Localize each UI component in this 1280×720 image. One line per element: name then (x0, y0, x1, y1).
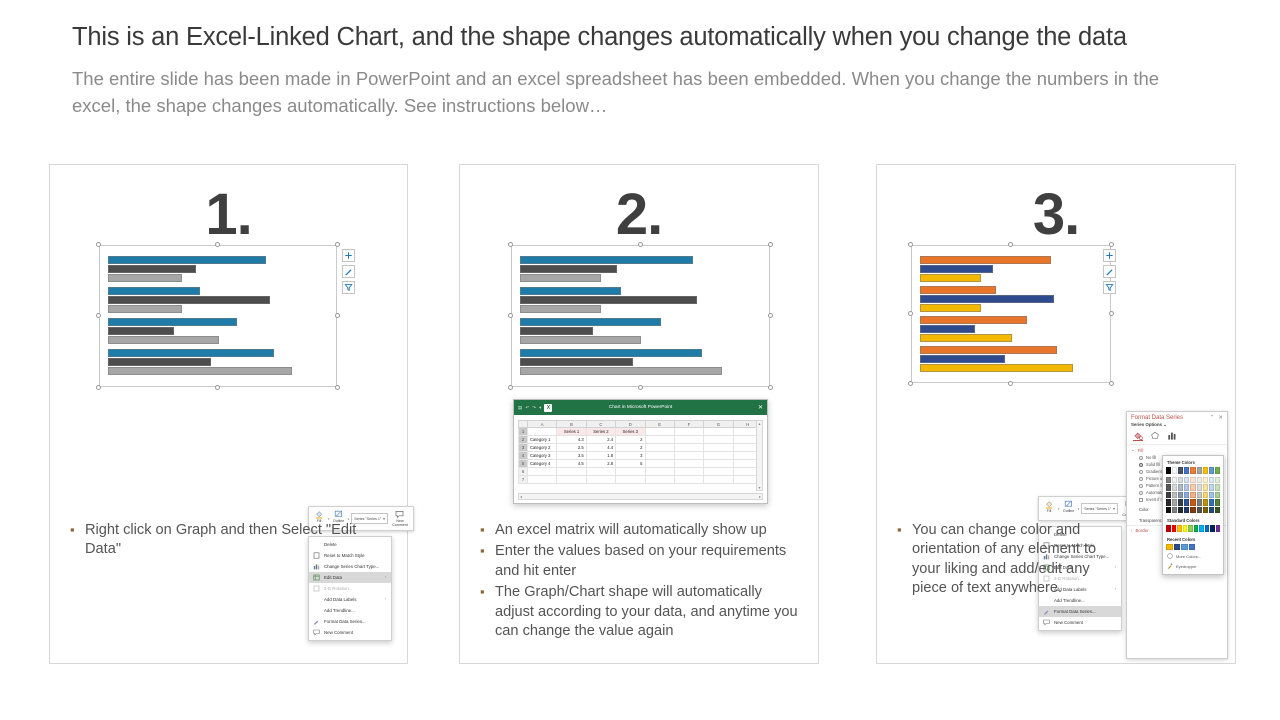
excel-close-button[interactable]: ✕ (758, 405, 763, 411)
series-selector-dropdown[interactable]: Series "Series 1" ▾ (1081, 503, 1118, 514)
excel-cell[interactable]: 4.3 (557, 436, 586, 444)
color-row (1166, 544, 1220, 551)
color-swatch[interactable] (1184, 484, 1189, 491)
eyedropper-label: Eyedropper (1176, 564, 1197, 569)
fill-section-header[interactable]: ⌄ Fill (1127, 444, 1227, 454)
bar-group (108, 255, 329, 286)
excel-cell[interactable] (645, 476, 674, 484)
bar-1[interactable] (920, 256, 1051, 264)
bar-3[interactable] (920, 334, 1012, 342)
theme-colors-grid[interactable] (1166, 467, 1220, 513)
excel-cell[interactable]: Series 1 (557, 428, 586, 436)
excel-row-header[interactable]: 1 (519, 428, 528, 436)
excel-row-header[interactable]: 6 (519, 468, 528, 476)
color-swatch[interactable] (1197, 467, 1202, 474)
chevron-right-icon: › (379, 597, 386, 602)
bar-group (108, 317, 329, 348)
excel-cell[interactable] (528, 428, 557, 436)
color-swatch[interactable] (1203, 492, 1208, 499)
excel-cell[interactable] (674, 452, 703, 460)
eyedropper-button[interactable]: Eyedropper (1166, 561, 1220, 571)
color-swatch[interactable] (1197, 499, 1202, 506)
bar-2[interactable] (520, 296, 697, 304)
bar-2[interactable] (920, 325, 975, 333)
excel-window-title: Chart in Microsoft PowerPoint (514, 405, 767, 410)
resize-handle-middle-left[interactable] (908, 311, 913, 316)
excel-cell[interactable] (645, 452, 674, 460)
color-swatch[interactable] (1172, 484, 1177, 491)
bullet-text: Right click on Graph and then Select "Ed… (85, 521, 393, 560)
bar-1[interactable] (520, 287, 621, 295)
color-swatch[interactable] (1190, 477, 1195, 484)
bullet-dot-icon: ▪ (480, 542, 486, 581)
color-swatch[interactable] (1172, 507, 1177, 514)
excel-cell[interactable] (704, 476, 733, 484)
color-swatch[interactable] (1189, 544, 1196, 551)
fill-button[interactable]: Fill (1042, 499, 1056, 518)
excel-row: 2Category 14.32.42 (519, 436, 763, 444)
eyedropper-icon (1167, 563, 1173, 569)
excel-cell[interactable]: 4.4 (586, 444, 615, 452)
resize-handle-top-left[interactable] (96, 242, 101, 247)
border-section-label: Border (1135, 528, 1148, 533)
color-swatch[interactable] (1166, 544, 1173, 551)
color-swatch[interactable] (1190, 507, 1195, 514)
context-menu-item[interactable]: Add Trendline... (309, 605, 391, 616)
bar-2[interactable] (108, 327, 174, 335)
color-swatch[interactable] (1178, 507, 1183, 514)
excel-cell[interactable] (674, 436, 703, 444)
color-swatch[interactable] (1172, 499, 1177, 506)
resize-handle-top-right[interactable] (335, 242, 340, 247)
color-swatch[interactable] (1178, 484, 1183, 491)
excel-cell[interactable] (704, 436, 733, 444)
color-swatch[interactable] (1172, 492, 1177, 499)
excel-cell[interactable]: Series 3 (616, 428, 645, 436)
pin-icon[interactable]: ⌃ (1210, 415, 1215, 421)
page-subtitle: The entire slide has been made in PowerP… (72, 66, 1197, 120)
color-swatch[interactable] (1172, 477, 1177, 484)
resize-handle-top-center[interactable] (638, 242, 643, 247)
chart-styles-brush-icon[interactable] (342, 265, 355, 278)
chevron-right-icon: › (379, 575, 386, 580)
bullet-text: An excel matrix will automatically show … (495, 521, 804, 540)
bullet-text: You can change color and orientation of … (912, 521, 1115, 599)
bar-1[interactable] (520, 349, 702, 357)
bar-2[interactable] (520, 265, 617, 273)
color-swatch[interactable] (1203, 477, 1208, 484)
excel-cell[interactable]: Category 3 (528, 452, 557, 460)
chart-elements-plus-icon[interactable] (1103, 249, 1116, 262)
color-swatch[interactable] (1209, 467, 1214, 474)
fill-option-radio[interactable] (1139, 456, 1143, 460)
chart-plot-area-1 (108, 255, 329, 379)
color-swatch[interactable] (1197, 484, 1202, 491)
color-swatch[interactable] (1166, 492, 1171, 499)
color-swatch[interactable] (1172, 467, 1177, 474)
color-swatch[interactable] (1203, 499, 1208, 506)
context-menu-item-label: Add Trendline... (324, 608, 386, 613)
resize-handle-bottom-center[interactable] (215, 385, 220, 390)
excel-cell[interactable] (704, 428, 733, 436)
bar-2[interactable] (520, 327, 593, 335)
bar-1[interactable] (520, 318, 661, 326)
outline-pen-icon (334, 510, 343, 519)
chart-side-buttons-3[interactable] (1103, 249, 1116, 294)
excel-column-header[interactable]: A (528, 421, 557, 428)
resize-handle-middle-right[interactable] (768, 313, 773, 318)
color-swatch[interactable] (1178, 477, 1183, 484)
picker-divider (1166, 514, 1220, 517)
color-swatch[interactable] (1205, 525, 1210, 532)
excel-cell[interactable]: 2.8 (586, 460, 615, 468)
resize-handle-middle-right[interactable] (1109, 311, 1114, 316)
color-swatch[interactable] (1215, 484, 1220, 491)
context-menu-item[interactable]: Format Data Series... (1039, 606, 1121, 617)
excel-column-header[interactable]: E (645, 421, 674, 428)
outline-pen-icon (1064, 500, 1073, 509)
fill-option-radio[interactable] (1139, 484, 1143, 488)
bar-2[interactable] (920, 355, 1005, 363)
resize-handle-top-center[interactable] (215, 242, 220, 247)
color-swatch[interactable] (1215, 492, 1220, 499)
bar-3[interactable] (520, 305, 601, 313)
color-swatch[interactable] (1184, 499, 1189, 506)
color-swatch[interactable] (1209, 507, 1214, 514)
excel-cell[interactable]: 4.5 (557, 460, 586, 468)
excel-cell[interactable] (645, 460, 674, 468)
resize-handle-top-center[interactable] (1008, 242, 1013, 247)
fill-dropdown-caret-icon[interactable]: ▾ (1058, 507, 1060, 511)
excel-grid[interactable]: ABCDEFGH1Series 1Series 2Series 32Catego… (518, 420, 763, 484)
chart-2[interactable] (511, 245, 770, 387)
outline-dropdown-caret-icon[interactable]: ▾ (1078, 507, 1080, 511)
bar-1[interactable] (108, 256, 266, 264)
color-swatch[interactable] (1215, 477, 1220, 484)
bullet-item: ▪You can change color and orientation of… (897, 521, 1115, 599)
excel-column-header[interactable]: D (616, 421, 645, 428)
resize-handle-bottom-left[interactable] (96, 385, 101, 390)
color-swatch[interactable] (1190, 492, 1195, 499)
excel-cell[interactable] (557, 476, 586, 484)
excel-cell[interactable]: 2.5 (557, 444, 586, 452)
excel-column-header[interactable]: C (586, 421, 615, 428)
fill-option-radio[interactable] (1139, 470, 1143, 474)
color-swatch[interactable] (1166, 484, 1171, 491)
bar-3[interactable] (520, 274, 601, 282)
chart-type-icon (313, 563, 320, 570)
excel-cell[interactable] (674, 428, 703, 436)
excel-cell[interactable]: 1.8 (586, 452, 615, 460)
color-swatch[interactable] (1181, 544, 1188, 551)
fill-bucket-icon[interactable] (1133, 431, 1143, 441)
excel-cell[interactable] (528, 468, 557, 476)
excel-cell[interactable]: 2 (616, 444, 645, 452)
excel-column-header[interactable]: B (557, 421, 586, 428)
resize-handle-bottom-left[interactable] (908, 381, 913, 386)
bar-1[interactable] (108, 349, 274, 357)
color-swatch[interactable] (1215, 507, 1220, 514)
excel-cell[interactable] (704, 444, 733, 452)
bar-2[interactable] (108, 358, 211, 366)
color-swatch[interactable] (1184, 467, 1189, 474)
series-bars-icon[interactable] (1167, 431, 1177, 441)
context-menu-item[interactable]: Add Data Labels› (309, 594, 391, 605)
fill-option-radio[interactable] (1139, 463, 1143, 467)
outline-label: Outline (1063, 509, 1074, 513)
excel-cell[interactable] (645, 428, 674, 436)
excel-row: 7 (519, 476, 763, 484)
excel-cell[interactable] (645, 468, 674, 476)
color-swatch[interactable] (1172, 525, 1177, 532)
color-swatch[interactable] (1178, 467, 1183, 474)
color-swatch[interactable] (1178, 492, 1183, 499)
excel-cell[interactable]: 5 (616, 460, 645, 468)
resize-handle-top-right[interactable] (1109, 242, 1114, 247)
resize-handle-top-left[interactable] (508, 242, 513, 247)
scroll-right-icon[interactable]: ▸ (759, 494, 761, 499)
resize-handle-bottom-right[interactable] (335, 385, 340, 390)
resize-handle-top-left[interactable] (908, 242, 913, 247)
resize-handle-middle-left[interactable] (96, 313, 101, 318)
bar-3[interactable] (920, 274, 981, 282)
chart-1[interactable] (99, 245, 337, 387)
context-menu-item[interactable]: Format Data Series... (309, 616, 391, 627)
color-swatch[interactable] (1184, 492, 1189, 499)
excel-cell[interactable] (674, 476, 703, 484)
excel-row-header[interactable]: 7 (519, 476, 528, 484)
excel-row: 1Series 1Series 2Series 3 (519, 428, 763, 436)
excel-cell[interactable] (704, 460, 733, 468)
bar-1[interactable] (520, 256, 693, 264)
format-icon (1043, 608, 1050, 615)
color-swatch[interactable] (1209, 492, 1214, 499)
select-all-corner[interactable] (519, 421, 528, 428)
color-picker-flyout[interactable]: Theme Colors Standard Colors Recent Colo… (1162, 455, 1224, 575)
resize-handle-bottom-right[interactable] (1109, 381, 1114, 386)
bullet-dot-icon: ▪ (480, 521, 486, 540)
color-swatch[interactable] (1188, 525, 1193, 532)
resize-handle-bottom-center[interactable] (638, 385, 643, 390)
edit-data-icon (313, 574, 320, 581)
chevron-down-icon: ⌄ (1131, 447, 1135, 453)
series-selector-value: Series "Series 1" (1084, 507, 1111, 511)
excel-row-header[interactable]: 5 (519, 460, 528, 468)
bullet-list-1: ▪Right click on Graph and then Select "E… (70, 521, 393, 562)
scroll-left-icon[interactable]: ◂ (520, 494, 522, 499)
chart-filters-funnel-icon[interactable] (1103, 281, 1116, 294)
resize-handle-bottom-left[interactable] (508, 385, 513, 390)
fill-section-label: Fill (1138, 448, 1144, 453)
excel-cell[interactable] (616, 468, 645, 476)
excel-row-header[interactable]: 3 (519, 444, 528, 452)
standard-colors-label: Standard Colors (1167, 518, 1219, 523)
bar-3[interactable] (108, 336, 219, 344)
color-swatch[interactable] (1177, 525, 1182, 532)
excel-cell[interactable]: Category 4 (528, 460, 557, 468)
invert-if-negative-checkbox[interactable] (1139, 498, 1143, 502)
color-swatch[interactable] (1209, 477, 1214, 484)
color-swatch[interactable] (1199, 525, 1204, 532)
color-swatch[interactable] (1215, 467, 1220, 474)
bar-3[interactable] (520, 336, 641, 344)
format-pane-subtitle[interactable]: Series Options ⌄ (1127, 422, 1227, 430)
scroll-down-icon[interactable]: ▾ (758, 485, 760, 490)
excel-cell[interactable] (586, 476, 615, 484)
excel-cell[interactable] (704, 452, 733, 460)
resize-handle-middle-right[interactable] (335, 313, 340, 318)
color-swatch[interactable] (1174, 544, 1181, 551)
color-swatch[interactable] (1166, 477, 1171, 484)
chart-3[interactable] (911, 245, 1111, 383)
excel-cell[interactable] (645, 436, 674, 444)
color-swatch[interactable] (1210, 525, 1215, 532)
color-swatch[interactable] (1166, 467, 1171, 474)
resize-handle-middle-left[interactable] (508, 313, 513, 318)
more-colors-button[interactable]: More Colors... (1166, 551, 1220, 561)
chart-side-buttons-1[interactable] (342, 249, 355, 294)
color-swatch[interactable] (1178, 499, 1183, 506)
outline-button[interactable]: Outline (1062, 499, 1076, 518)
standard-colors-grid[interactable] (1166, 525, 1220, 532)
excel-horizontal-scrollbar[interactable]: ◂ ▸ (518, 493, 763, 500)
color-swatch[interactable] (1215, 499, 1220, 506)
recent-colors-grid[interactable] (1166, 544, 1220, 551)
color-row (1166, 507, 1220, 514)
color-swatch[interactable] (1197, 477, 1202, 484)
bar-2[interactable] (920, 265, 993, 273)
excel-vertical-scrollbar[interactable]: ▴ ▾ (756, 420, 763, 491)
bar-3[interactable] (920, 304, 981, 312)
color-row (1166, 492, 1220, 499)
fill-option-radio[interactable] (1139, 477, 1143, 481)
resize-handle-bottom-right[interactable] (768, 385, 773, 390)
bar-1[interactable] (108, 287, 200, 295)
excel-title-bar: ▤ ↶ ↷ ▾ X Chart in Microsoft PowerPoint … (514, 400, 767, 415)
chart-plot-area-2 (520, 255, 762, 379)
bar-2[interactable] (920, 295, 1054, 303)
color-swatch[interactable] (1166, 525, 1171, 532)
bar-1[interactable] (920, 346, 1057, 354)
chart-styles-brush-icon[interactable] (1103, 265, 1116, 278)
excel-column-header[interactable]: F (674, 421, 703, 428)
color-swatch[interactable] (1190, 499, 1195, 506)
bar-3[interactable] (108, 305, 182, 313)
excel-cell[interactable]: 3.5 (557, 452, 586, 460)
color-swatch[interactable] (1194, 525, 1199, 532)
color-swatch[interactable] (1183, 525, 1188, 532)
excel-row-header[interactable]: 4 (519, 452, 528, 460)
excel-window[interactable]: ▤ ↶ ↷ ▾ X Chart in Microsoft PowerPoint … (513, 399, 768, 504)
comment-icon (313, 629, 320, 636)
bar-3[interactable] (108, 367, 292, 375)
color-swatch[interactable] (1209, 499, 1214, 506)
chart-filters-funnel-icon[interactable] (342, 281, 355, 294)
excel-cell[interactable] (674, 444, 703, 452)
color-swatch[interactable] (1216, 525, 1221, 532)
bar-2[interactable] (520, 358, 633, 366)
excel-cell[interactable]: 2.4 (586, 436, 615, 444)
color-swatch[interactable] (1166, 507, 1171, 514)
color-swatch[interactable] (1203, 484, 1208, 491)
bar-3[interactable] (920, 364, 1073, 372)
chart-elements-plus-icon[interactable] (342, 249, 355, 262)
excel-cell[interactable]: Category 2 (528, 444, 557, 452)
bullet-item: ▪Enter the values based on your requirem… (480, 542, 804, 581)
excel-cell[interactable] (645, 444, 674, 452)
context-menu-item: 3-D Rotation... (309, 583, 391, 594)
excel-cell[interactable] (586, 468, 615, 476)
color-swatch[interactable] (1184, 477, 1189, 484)
fill-bucket-icon (315, 510, 324, 519)
context-menu-item[interactable]: Edit Data› (309, 572, 391, 583)
bar-1[interactable] (920, 316, 1027, 324)
bar-3[interactable] (108, 274, 182, 282)
step-panel-1: 1. (49, 164, 408, 664)
color-swatch[interactable] (1197, 492, 1202, 499)
bar-2[interactable] (108, 265, 196, 273)
fill-option-radio[interactable] (1139, 491, 1143, 495)
excel-cell[interactable] (674, 468, 703, 476)
excel-row: 4Category 33.51.83 (519, 452, 763, 460)
context-menu-item[interactable]: New Comment (1039, 617, 1121, 628)
scroll-up-icon[interactable]: ▴ (758, 421, 760, 426)
excel-column-header[interactable]: G (704, 421, 733, 428)
color-swatch[interactable] (1184, 507, 1189, 514)
bar-group (108, 286, 329, 317)
bar-group (520, 317, 762, 348)
color-swatch[interactable] (1203, 467, 1208, 474)
context-menu-item[interactable]: Change Series Chart Type... (309, 561, 391, 572)
close-icon[interactable]: ✕ (1218, 415, 1223, 421)
excel-cell[interactable]: Series 2 (586, 428, 615, 436)
bullet-dot-icon: ▪ (480, 583, 486, 641)
excel-cell[interactable]: Category 1 (528, 436, 557, 444)
resize-handle-bottom-center[interactable] (1008, 381, 1013, 386)
bar-1[interactable] (920, 286, 996, 294)
context-menu-item-label: Format Data Series... (324, 619, 386, 624)
chevron-down-icon[interactable]: ⌄ (1163, 422, 1167, 427)
color-swatch[interactable] (1190, 484, 1195, 491)
excel-cell[interactable]: 3 (616, 452, 645, 460)
bar-2[interactable] (108, 296, 270, 304)
effects-pentagon-icon[interactable] (1150, 431, 1160, 441)
excel-grid-body[interactable]: ABCDEFGH1Series 1Series 2Series 32Catego… (514, 415, 767, 486)
color-swatch[interactable] (1166, 499, 1171, 506)
resize-handle-top-right[interactable] (768, 242, 773, 247)
menu-icon (313, 607, 320, 614)
excel-cell[interactable] (704, 468, 733, 476)
bar-3[interactable] (520, 367, 722, 375)
bar-1[interactable] (108, 318, 237, 326)
excel-row-header[interactable]: 2 (519, 436, 528, 444)
context-menu-item[interactable]: New Comment (309, 627, 391, 638)
color-swatch[interactable] (1197, 507, 1202, 514)
step-panel-3: 3. (876, 164, 1236, 664)
format-pane-tabs[interactable] (1127, 430, 1227, 444)
excel-cell[interactable] (528, 476, 557, 484)
color-swatch[interactable] (1203, 507, 1208, 514)
excel-cell[interactable]: 2 (616, 436, 645, 444)
color-swatch[interactable] (1209, 484, 1214, 491)
excel-cell[interactable] (616, 476, 645, 484)
excel-cell[interactable] (674, 460, 703, 468)
excel-cell[interactable] (557, 468, 586, 476)
excel-row: 3Category 22.54.42 (519, 444, 763, 452)
color-swatch[interactable] (1190, 467, 1195, 474)
chevron-right-icon: › (1131, 528, 1132, 533)
format-icon (313, 618, 320, 625)
